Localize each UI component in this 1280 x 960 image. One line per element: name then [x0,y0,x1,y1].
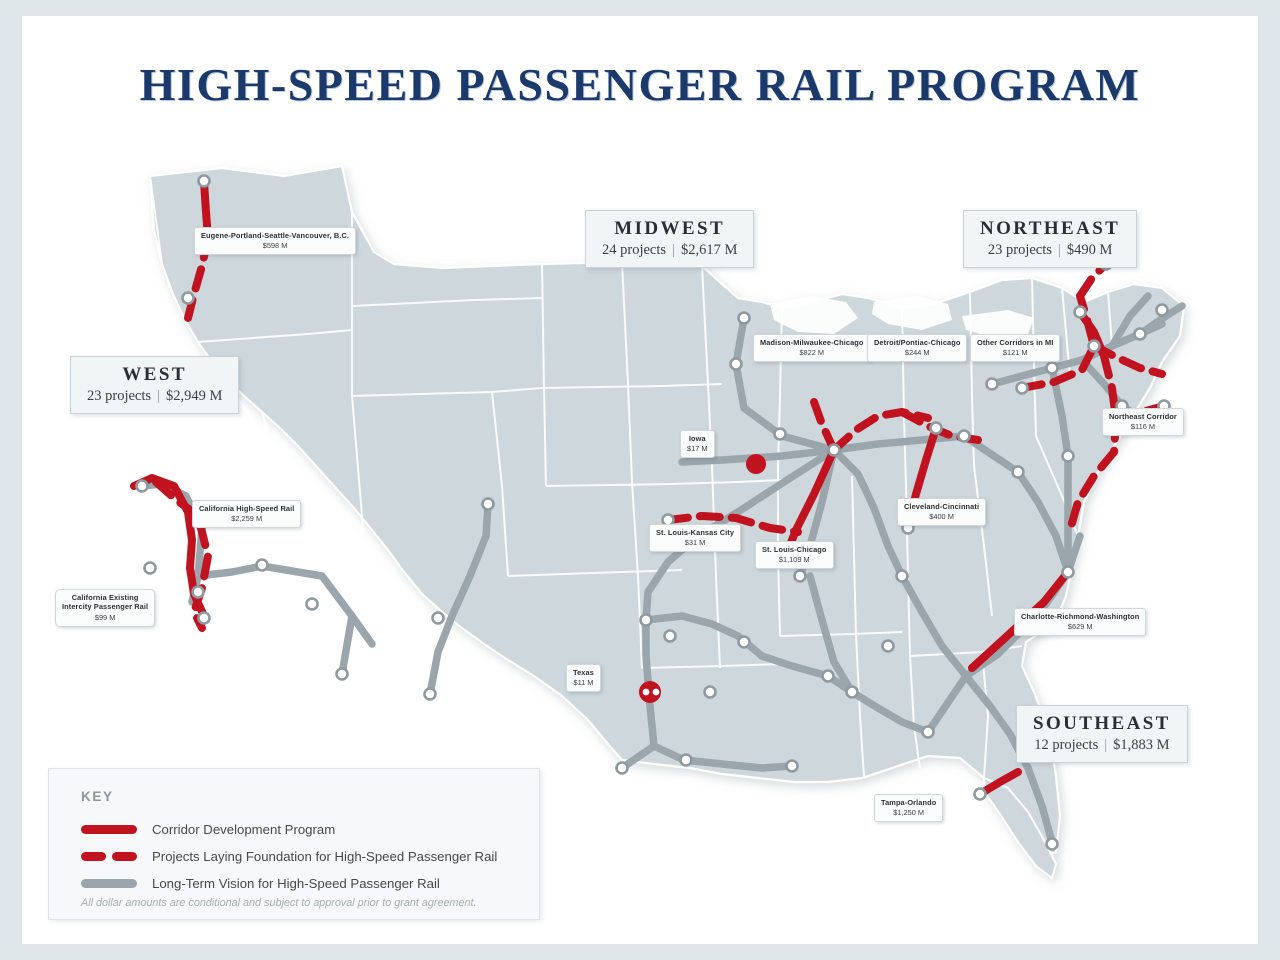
key-swatch-dashed-red [81,852,137,861]
corridor-amount: $99 M [62,613,148,622]
corridor-amount: $400 M [904,512,979,521]
corridor-label-detroit[interactable]: Detroit/Pontiac-Chicago $244 M [867,334,967,362]
corridor-name: St. Louis-Kansas City [656,528,734,537]
corridor-name: Eugene-Portland-Seattle-Vancouver, B.C. [201,231,349,240]
page-root: HIGH-SPEED PASSENGER RAIL PROGRAM [0,0,1280,960]
poster-frame: HIGH-SPEED PASSENGER RAIL PROGRAM [22,16,1258,944]
corridor-name: Iowa [687,434,708,443]
corridor-label-cahsr[interactable]: California High-Speed Rail $2,259 M [192,500,301,528]
corridor-name: Texas [573,668,594,677]
region-name: WEST [87,364,222,386]
region-card-northeast[interactable]: NORTHEAST 23 projects|$490 M [963,210,1137,268]
corridor-name: Other Corridors in MI [977,338,1053,347]
key-item-corridor-development[interactable]: Corridor Development Program [81,819,335,839]
region-amount: $490 M [1067,242,1113,258]
region-card-west[interactable]: WEST 23 projects|$2,949 M [70,356,239,414]
key-disclaimer-note: All dollar amounts are conditional and s… [81,897,477,909]
corridor-name-line2: Intercity Passenger Rail [62,602,148,611]
corridor-label-iowa[interactable]: Iowa $17 M [680,430,715,458]
region-amount: $2,617 M [681,242,737,258]
region-stats: 12 projects|$1,883 M [1033,737,1171,754]
region-name: SOUTHEAST [1033,713,1171,735]
corridor-label-stl-kc[interactable]: St. Louis-Kansas City $31 M [649,524,741,552]
corridor-name: Detroit/Pontiac-Chicago [874,338,960,347]
region-stats: 24 projects|$2,617 M [602,242,737,259]
corridor-name: Charlotte-Richmond-Washington [1021,612,1139,621]
key-item-long-term-vision[interactable]: Long-Term Vision for High-Speed Passenge… [81,873,440,893]
region-amount: $2,949 M [166,388,222,404]
region-stats-separator: | [1058,242,1061,258]
region-amount: $1,883 M [1113,737,1169,753]
region-name: NORTHEAST [980,218,1120,240]
region-projects: 23 projects [988,242,1052,258]
corridor-name: California High-Speed Rail [199,504,294,513]
corridor-amount: $121 M [977,348,1053,357]
corridor-name: Northeast Corridor [1109,412,1177,421]
corridor-name: Cleveland-Cincinnati [904,502,979,511]
key-swatch-solid-red [81,825,137,834]
corridor-label-tampa[interactable]: Tampa-Orlando $1,250 M [874,794,943,822]
corridor-amount: $2,259 M [199,514,294,523]
region-card-southeast[interactable]: SOUTHEAST 12 projects|$1,883 M [1016,705,1188,763]
key-label: Corridor Development Program [152,822,335,837]
corridor-amount: $598 M [201,241,349,250]
region-stats-separator: | [157,388,160,404]
key-label: Long-Term Vision for High-Speed Passenge… [152,876,440,891]
corridor-label-ca-intercity[interactable]: California Existing Intercity Passenger … [55,589,155,627]
project-dot-texas [639,681,661,703]
region-stats-separator: | [672,242,675,258]
project-dot-iowa [746,454,766,474]
corridor-label-stl-chi[interactable]: St. Louis-Chicago $1,109 M [755,541,834,569]
us-rail-map: MIDWEST 24 projects|$2,617 M NORTHEAST 2… [22,16,1258,944]
corridor-amount: $116 M [1109,422,1177,431]
corridor-name: Tampa-Orlando [881,798,936,807]
corridor-label-pnw[interactable]: Eugene-Portland-Seattle-Vancouver, B.C. … [194,227,356,255]
key-label: Projects Laying Foundation for High-Spee… [152,849,497,864]
key-title: KEY [81,789,114,804]
corridor-amount: $244 M [874,348,960,357]
region-stats: 23 projects|$2,949 M [87,388,222,405]
region-card-midwest[interactable]: MIDWEST 24 projects|$2,617 M [585,210,754,268]
region-stats: 23 projects|$490 M [980,242,1120,259]
corridor-amount: $11 M [573,678,594,687]
corridor-label-mi-other[interactable]: Other Corridors in MI $121 M [970,334,1060,362]
region-stats-separator: | [1104,737,1107,753]
corridor-amount: $1,109 M [762,555,827,564]
corridor-label-cle-cin[interactable]: Cleveland-Cincinnati $400 M [897,498,986,526]
key-item-foundation-projects[interactable]: Projects Laying Foundation for High-Spee… [81,846,497,866]
corridor-amount: $822 M [760,348,864,357]
region-projects: 12 projects [1034,737,1098,753]
corridor-label-nec[interactable]: Northeast Corridor $116 M [1102,408,1184,436]
corridor-amount: $17 M [687,444,708,453]
key-swatch-solid-gray [81,879,137,888]
corridor-name: St. Louis-Chicago [762,545,827,554]
map-key: KEY Corridor Development Program Project… [48,768,540,920]
corridor-label-texas[interactable]: Texas $11 M [566,664,601,692]
region-projects: 24 projects [602,242,666,258]
corridor-amount: $1,250 M [881,808,936,817]
corridor-label-madison[interactable]: Madison-Milwaukee-Chicago $822 M [753,334,871,362]
region-projects: 23 projects [87,388,151,404]
corridor-label-charlotte[interactable]: Charlotte-Richmond-Washington $629 M [1014,608,1146,636]
corridor-name: Madison-Milwaukee-Chicago [760,338,864,347]
corridor-amount: $629 M [1021,622,1139,631]
corridor-name-line1: California Existing [62,593,148,602]
corridor-amount: $31 M [656,538,734,547]
region-name: MIDWEST [602,218,737,240]
